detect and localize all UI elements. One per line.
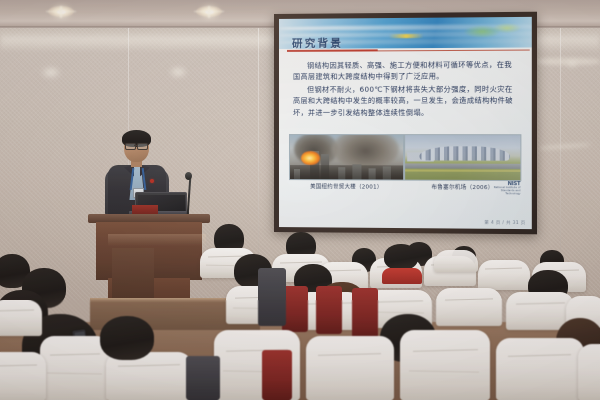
list-item xyxy=(100,316,154,360)
seat-cover xyxy=(478,260,530,290)
slide-figure-wtc: 美国纽约世贸大楼（2001） xyxy=(289,134,404,191)
slide-paragraph-1: 钢结构因其轻质、高强、施工方便和材料可循环等优点，在我国高层建筑和大跨度结构中得… xyxy=(293,59,519,83)
title-underline-extension xyxy=(378,50,530,52)
seat-back-red xyxy=(316,286,342,334)
seat-cover xyxy=(306,336,394,400)
seat-cover xyxy=(434,250,478,272)
microphone-icon xyxy=(185,172,192,180)
title-underline-red xyxy=(287,49,378,52)
wall-light-reflection-1 xyxy=(40,66,62,79)
slide-paragraph-2: 但钢材不耐火，600℃下钢材将丧失大部分强度，同时火灾在高层和大跨结构中发生的概… xyxy=(293,83,519,118)
glasses-icon xyxy=(125,143,148,148)
presenter-lapel-pin xyxy=(150,179,154,183)
slide-page-footer: 第 4 页 / 共 31 页 xyxy=(484,220,525,226)
seat-cover xyxy=(400,330,490,400)
nist-logo-subtext: National Institute of Standards and Tech… xyxy=(493,187,520,196)
wtc-caption: 美国纽约世贸大楼（2001） xyxy=(289,182,404,191)
wall-light-reflection-2 xyxy=(168,66,188,78)
wall-sheen-band xyxy=(536,58,600,65)
projection-screen: 研究背景 钢结构因其轻质、高强、施工方便和材料可循环等优点，在我国高层建筑和大跨… xyxy=(274,12,537,235)
conference-photo-scene: 研究背景 钢结构因其轻质、高强、施工方便和材料可循环等优点，在我国高层建筑和大跨… xyxy=(0,0,600,400)
slide-figure-airport: 布鲁塞尔机场（2006） NIST National Institute of … xyxy=(404,134,521,191)
banner-accent-streak xyxy=(389,34,424,38)
presentation-slide: 研究背景 钢结构因其轻质、高强、施工方便和材料可循环等优点，在我国高层建筑和大跨… xyxy=(279,17,532,229)
seat-cover xyxy=(436,288,502,326)
seat-back-dark xyxy=(258,268,286,326)
slide-figure-row: 美国纽约世贸大楼（2001） 布鲁塞尔机场（2006） NIST Natio xyxy=(289,134,521,193)
seat-cover xyxy=(0,352,46,400)
ceiling-downlight-left xyxy=(48,6,74,17)
slide-title: 研究背景 xyxy=(292,36,343,51)
seat-back-red xyxy=(262,350,292,400)
seat-cover xyxy=(0,300,42,336)
seat-back-dark xyxy=(186,356,220,400)
seat-cover xyxy=(578,344,600,400)
seat-cover xyxy=(496,338,584,400)
screen-surface: 研究背景 钢结构因其轻质、高强、施工方便和材料可循环等优点，在我国高层建筑和大跨… xyxy=(279,17,532,229)
ceiling-downlight-right xyxy=(196,6,222,17)
airport-photo xyxy=(404,134,521,181)
attendee-red-shirt xyxy=(384,244,418,278)
nist-logo: NIST National Institute of Standards and… xyxy=(493,181,520,192)
slide-body-text: 钢结构因其轻质、高强、施工方便和材料可循环等优点，在我国高层建筑和大跨度结构中得… xyxy=(293,59,519,119)
wtc-photo xyxy=(289,134,404,181)
banner-leaf-graphic xyxy=(464,19,526,42)
seat-back-red xyxy=(352,288,378,338)
